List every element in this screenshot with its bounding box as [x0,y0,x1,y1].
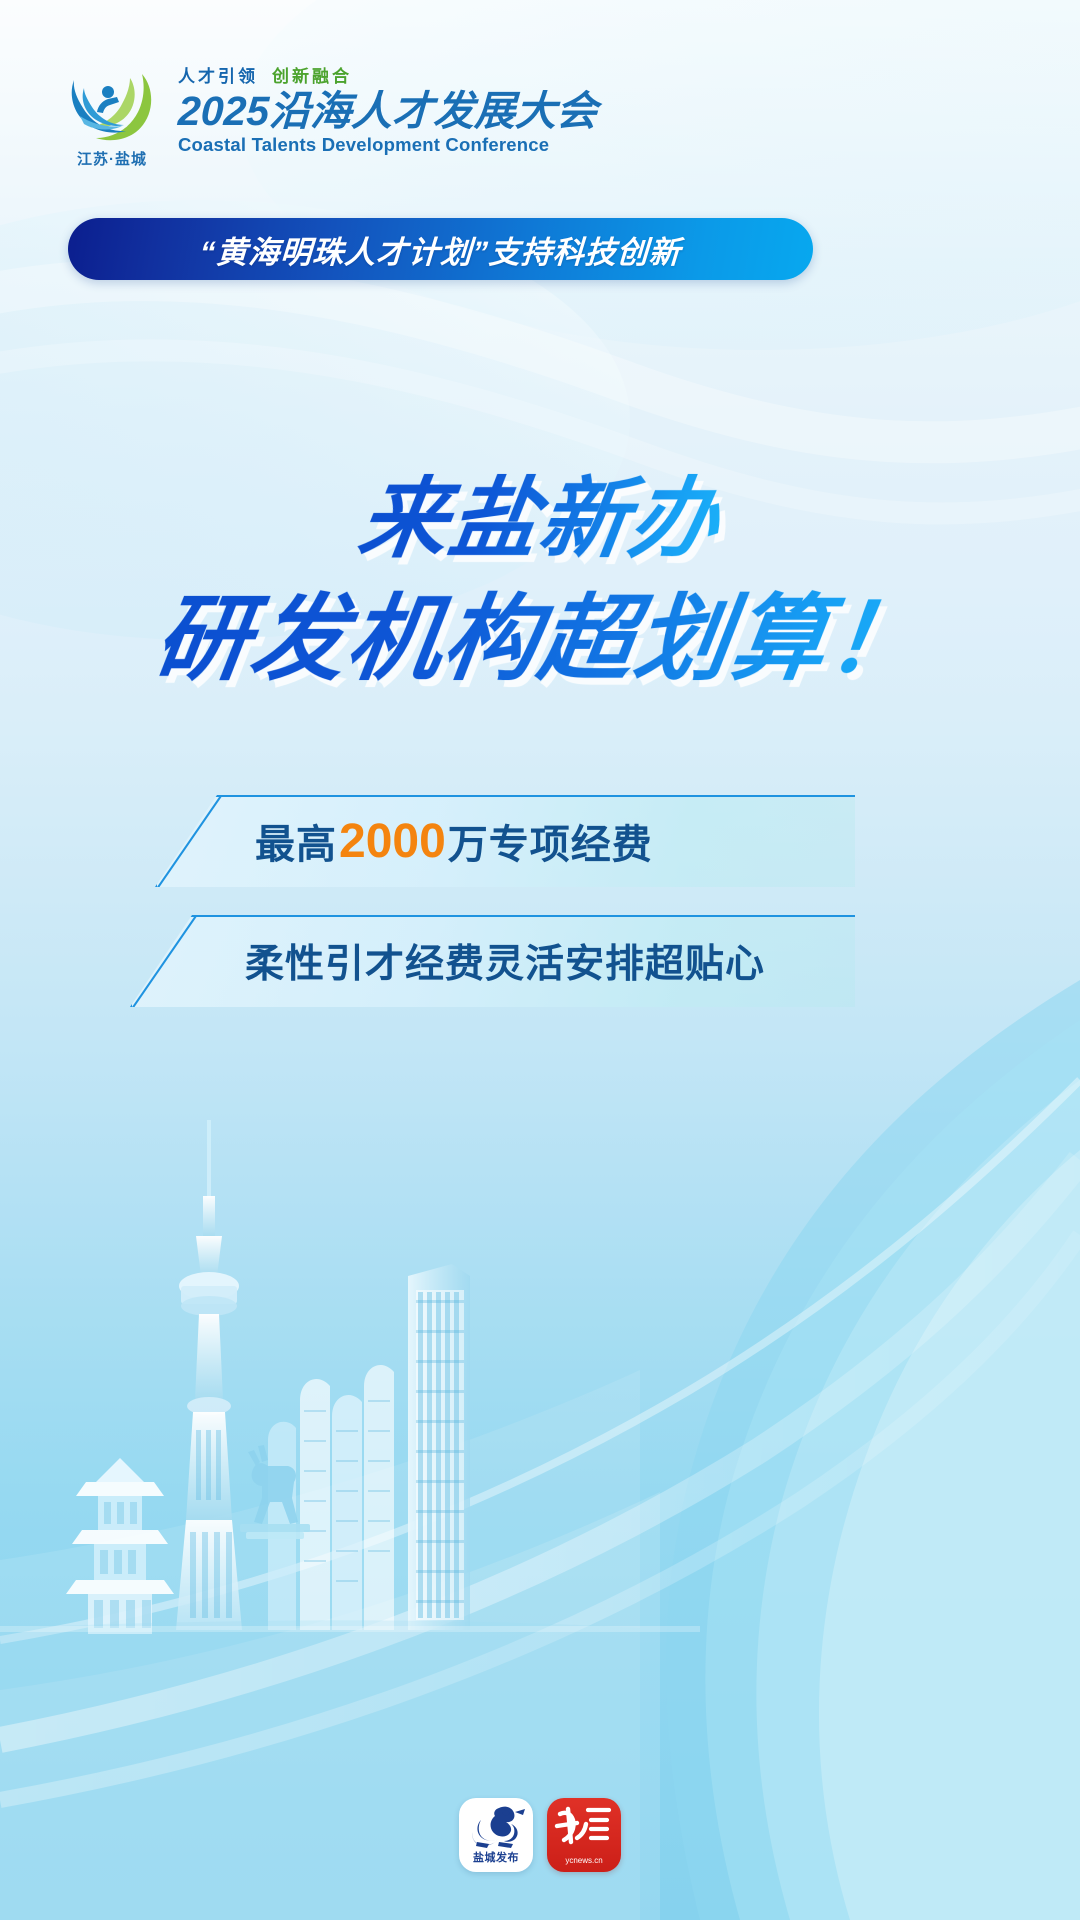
benefit-prefix-1: 最高 [255,812,337,870]
conference-title-cn: 2025沿海人才发展大会 [177,89,598,133]
woyan-calligraphy-icon [547,1798,621,1854]
radio-tower-icon [176,1120,242,1630]
headline-line-1-wrap: 来盐新办 [0,468,1080,570]
poster-root: 江苏·盐城 人才引领创新融合 2025沿海人才发展大会 Coastal Tale… [0,0,1080,1920]
header-tagline: 人才引领创新融合 [178,68,597,85]
pagoda-icon [66,1458,174,1634]
benefit-suffix-1: 万专项经费 [448,812,653,870]
header-text-block: 人才引领创新融合 2025沿海人才发展大会 Coastal Talents De… [178,66,597,156]
headline-block: 来盐新办 研发机构超划算！ [0,468,1080,693]
program-banner-text: “黄海明珠人才计划”支持科技创新 [199,227,682,272]
headline-line-2: 研发机构超划算！ [148,584,931,693]
city-skyline-illustration [0,1100,1080,1920]
yancheng-crane-icon [459,1798,533,1856]
footer-logos: 盐城发布 ycnews.cn [0,1798,1080,1872]
headline-line-1: 来盐新办 [353,468,727,570]
office-tower-icon [268,1365,394,1630]
conference-title-en: Coastal Talents Development Conference [178,135,597,155]
footer-logo-yancheng-release[interactable]: 盐城发布 [459,1798,533,1872]
benefit-row-2: 柔性引才经费灵活安排超贴心 [0,915,1080,1007]
benefit-prefix-2: 柔性引才经费灵活安排超贴心 [245,933,765,989]
deer-statue-icon [240,1445,310,1539]
header: 江苏·盐城 人才引领创新融合 2025沿海人才发展大会 Coastal Tale… [64,66,597,170]
coastal-talents-wave-logo-icon [64,66,160,146]
logo-city-label: 江苏·盐城 [64,148,160,169]
skyscraper-icon [408,1264,470,1630]
benefit-row-1: 最高2000万专项经费 [0,795,1080,887]
benefit-text-1: 最高2000万专项经费 [255,795,653,887]
tagline-green: 创新融合 [272,67,352,86]
conference-logo: 江苏·盐城 [64,66,160,170]
skyline-svg [0,1100,1080,1920]
benefit-text-2: 柔性引才经费灵活安排超贴心 [245,915,765,1007]
benefit-highlight-1: 2000 [337,814,448,869]
footer-logo-caption-ycnews: ycnews.cn [547,1856,621,1865]
tagline-blue: 人才引领 [178,67,258,86]
program-banner: “黄海明珠人才计划”支持科技创新 [68,218,813,280]
headline-line-2-wrap: 研发机构超划算！ [0,584,1080,693]
footer-logo-ycnews[interactable]: ycnews.cn [547,1798,621,1872]
footer-logo-caption-yancheng: 盐城发布 [459,1849,533,1865]
